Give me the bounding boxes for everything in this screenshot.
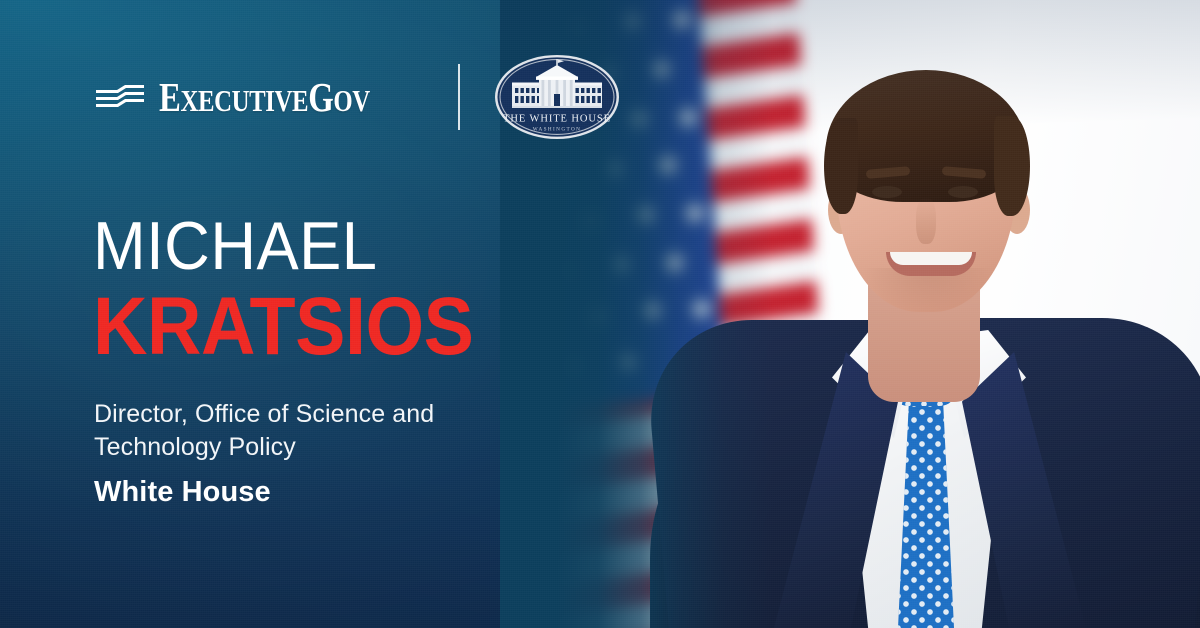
svg-text:WASHINGTON: WASHINGTON <box>533 127 582 133</box>
executivegov-logo[interactable]: EXECUTIVEGOV <box>95 77 422 118</box>
wordmark-part: E <box>159 74 180 120</box>
banner-content: EXECUTIVEGOV <box>0 0 600 628</box>
subject-role: Director, Office of Science and Technolo… <box>94 398 494 465</box>
wordmark-part: XECUTIVE <box>180 83 308 118</box>
wordmark-part: OV <box>333 83 369 118</box>
wordmark-part: G <box>308 74 333 120</box>
white-house-seal[interactable]: THE WHITE HOUSE WASHINGTON <box>494 54 620 140</box>
subject-last-name: KRATSIOS <box>93 286 474 368</box>
subject-organization: White House <box>94 476 271 509</box>
executivegov-wordmark: EXECUTIVEGOV <box>159 77 370 118</box>
white-house-seal-icon: THE WHITE HOUSE WASHINGTON <box>494 54 620 140</box>
header-divider <box>458 64 460 130</box>
executivegov-wave-icon <box>95 82 145 112</box>
svg-text:THE WHITE HOUSE: THE WHITE HOUSE <box>504 114 612 125</box>
subject-first-name: MICHAEL <box>93 212 377 280</box>
logo-bar: EXECUTIVEGOV <box>95 58 620 136</box>
executivegov-profile-banner: EXECUTIVEGOV <box>0 0 1200 628</box>
